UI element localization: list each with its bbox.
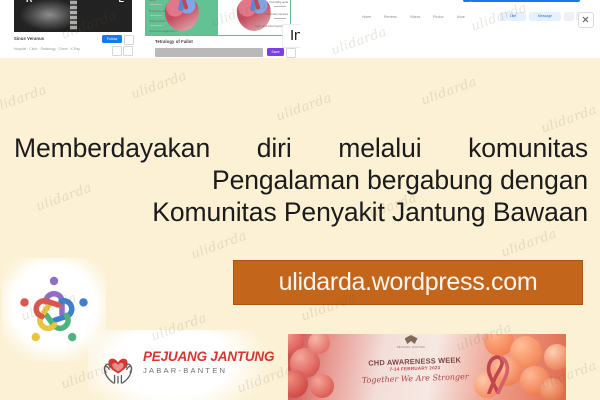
organisation-emblem-icon [405, 335, 418, 344]
balloon [308, 334, 330, 354]
watermark: ulidarda [189, 228, 249, 262]
heart-label: Aorta [149, 0, 155, 2]
pejuang-jantung-logo: PEJUANG JANTUNG JABAR-BANTEN [88, 330, 288, 400]
fb-whatsapp-button[interactable]: WhatsApp [470, 0, 580, 2]
chd-backdrop-logo-caption: PEJUANG JANTUNG [394, 346, 428, 349]
label-tick [274, 6, 286, 7]
fb-nav-reviews[interactable]: Reviews [384, 15, 397, 19]
balloon [544, 344, 566, 370]
site-url-banner[interactable]: ulidarda.wordpress.com [233, 260, 583, 305]
pejuang-jantung-title: PEJUANG JANTUNG [143, 350, 283, 364]
xray-bookmark-button[interactable] [123, 46, 133, 56]
fb-nav-videos[interactable]: Videos [410, 15, 420, 19]
heart-diagram-left-pane: Aorta Pulmonary artery Right ventricle V… [146, 0, 218, 35]
watermark: ulidarda [129, 68, 189, 102]
chd-awareness-photo: PEJUANG JANTUNG CHD AWARENESS WEEK 7-14 … [288, 334, 566, 400]
heart-diagram-right-pane: Overriding aorta Pulmonary stenosis Righ… [218, 0, 290, 35]
watermark: ulidarda [499, 226, 559, 260]
heart-label: Ventricular septal defect [149, 30, 177, 33]
watermark: ulidarda [0, 82, 49, 116]
headline-line-1: Memberdayakan diri melalui komunitas [14, 132, 588, 164]
xray-card: R L Sinus Veranus Hospital · Clinic · Ra… [4, 0, 132, 58]
heart-save-button[interactable]: Save [267, 48, 284, 56]
label-tick [150, 25, 162, 26]
balloon [540, 378, 564, 400]
xray-marker-right: R [26, 0, 33, 4]
spine-shadow [70, 0, 77, 30]
heart-in-hands-icon [96, 342, 140, 386]
xray-card-caption: Sinus Veranus [14, 36, 44, 41]
heart-label: Pulmonary stenosis [265, 13, 288, 16]
chest-xray-image: R L [14, 0, 132, 32]
pejuang-jantung-wordmark: PEJUANG JANTUNG JABAR-BANTEN [143, 350, 283, 374]
chd-banner-text: CHD AWARENESS WEEK 7-14 FEBRUARY 2023 To… [340, 355, 491, 385]
fb-nav-home[interactable]: Home [362, 15, 371, 19]
headline-line-2: Pengalaman bergabung dengan [14, 164, 588, 196]
chd-backdrop-logo: PEJUANG JANTUNG [394, 335, 428, 349]
headline-line-3: Komunitas Penyakit Jantung Bawaan [14, 196, 588, 228]
chd-awareness-tagline: Together We Are Stronger [340, 372, 490, 385]
heart-label: Overriding aorta [269, 1, 288, 4]
heart-label: Right ventricle [149, 20, 165, 23]
watermark: ulidarda [274, 90, 334, 124]
watermark: ulidarda [419, 74, 479, 108]
facebook-page-fragment: @PejuangJantung · Community Organization… [300, 0, 600, 58]
heart-card-text-placeholder [155, 48, 263, 57]
hero-headline: Memberdayakan diri melalui komunitas Pen… [14, 132, 588, 228]
label-tick [274, 18, 286, 19]
heart-label: Pulmonary artery [149, 10, 169, 13]
top-collage-strip: R L Sinus Veranus Hospital · Clinic · Ra… [0, 0, 600, 58]
label-tick [150, 4, 162, 5]
hero-image-canvas: R L Sinus Veranus Hospital · Clinic · Ra… [0, 0, 600, 400]
heart-more-button[interactable] [286, 48, 296, 58]
heart-diagram-frame: Aorta Pulmonary artery Right ventricle V… [145, 0, 291, 36]
xray-follow-button[interactable]: Follow [102, 35, 122, 43]
close-icon[interactable] [578, 12, 594, 28]
fb-nav-photos[interactable]: Photos [433, 15, 444, 19]
xray-marker-left: L [119, 0, 125, 4]
xray-more-button[interactable] [124, 35, 134, 45]
heart-anatomy-illustration-left [163, 0, 200, 33]
fb-message-button[interactable]: Message [529, 12, 561, 21]
fb-search-button[interactable] [564, 12, 574, 21]
fb-like-button[interactable]: Like [500, 12, 526, 21]
label-tick [150, 15, 162, 16]
xray-share-button[interactable] [112, 46, 122, 56]
fb-nav-more[interactable]: More [457, 15, 465, 19]
balloon [310, 374, 334, 398]
xray-card-meta: Hospital · Clinic · Radiology · Chest · … [14, 47, 80, 51]
pejuang-jantung-subtitle: JABAR-BANTEN [143, 367, 283, 375]
site-url-text: ulidarda.wordpress.com [279, 270, 538, 295]
awareness-ribbon-icon [484, 352, 512, 399]
heart-card-caption: Tetralogy of Fallot [155, 39, 193, 44]
heart-diagram-card: Aorta Pulmonary artery Right ventricle V… [145, 0, 295, 58]
